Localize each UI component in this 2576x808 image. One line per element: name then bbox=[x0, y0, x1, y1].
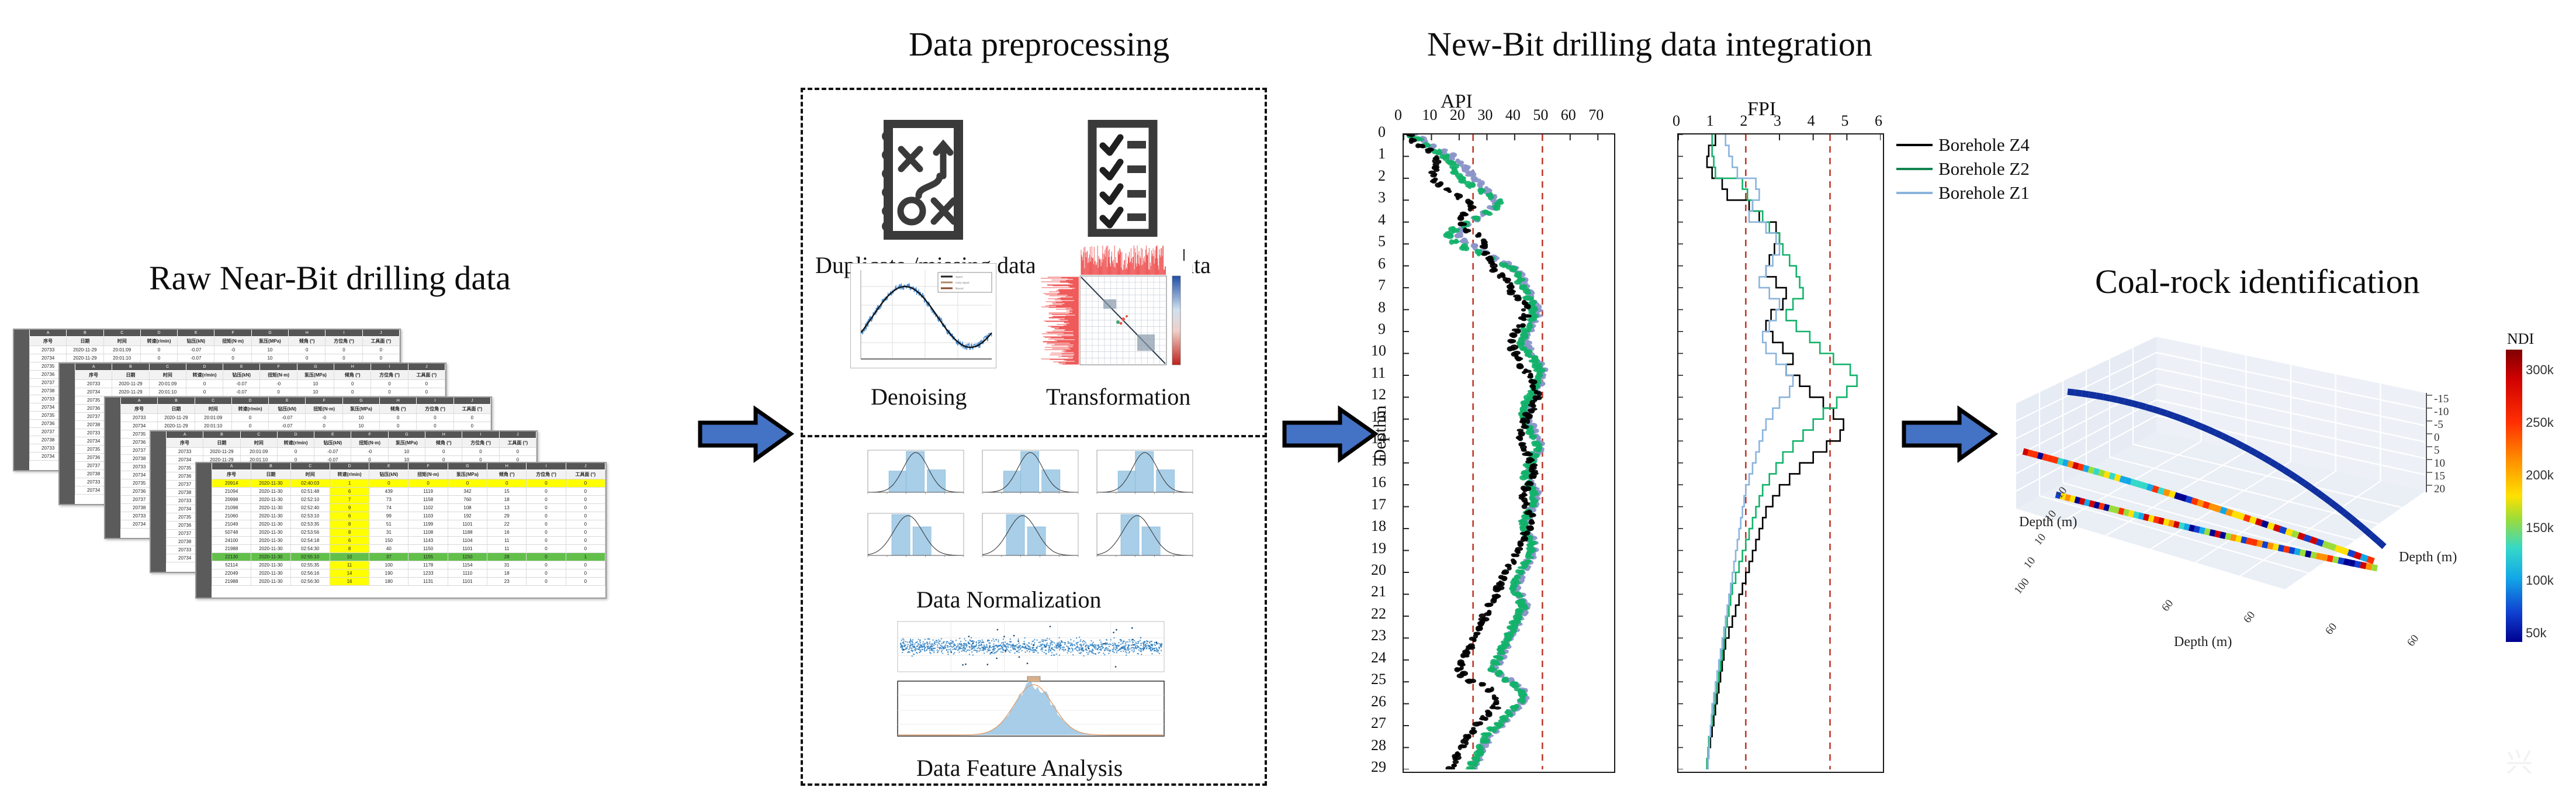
fpi-xtick: 6 bbox=[1875, 112, 1882, 130]
colorbar-title: NDI bbox=[2507, 330, 2534, 348]
svg-text:noisy signal: noisy signal bbox=[955, 281, 970, 284]
denoising-label: Denoising bbox=[871, 383, 967, 410]
depth-ytick: 14 bbox=[1371, 430, 1386, 447]
depth-ytick: 26 bbox=[1371, 693, 1386, 710]
table-row: 241002020-11-3002:54:186150114311041100 bbox=[196, 537, 605, 545]
legend-label: Borehole Z2 bbox=[1938, 158, 2030, 179]
table-row: 210942020-11-3002:51:48643911193421500 bbox=[196, 488, 605, 496]
api-xtick: 10 bbox=[1422, 106, 1437, 124]
table-row: 220492020-11-3002:56:1614190123311101800 bbox=[196, 569, 605, 578]
depth-ytick: 15 bbox=[1371, 452, 1386, 469]
depth-ytick: 20 bbox=[1371, 561, 1386, 579]
fpi-xtick: 5 bbox=[1841, 112, 1848, 130]
axis3d-tick: 5 bbox=[2434, 444, 2440, 457]
table-row: 521142020-11-3002:55:3511100117811543100 bbox=[196, 561, 605, 569]
table-row: 207342020-11-2920:01:100-0.07010000 bbox=[14, 354, 400, 362]
depth-ytick: 21 bbox=[1371, 583, 1386, 600]
api-track bbox=[1403, 133, 1615, 773]
legend-item: Borehole Z1 bbox=[1896, 182, 2030, 203]
fpi-axis-title: FPI bbox=[1747, 98, 1776, 120]
api-xtick: 30 bbox=[1477, 106, 1493, 124]
depth-ytick: 7 bbox=[1378, 277, 1386, 294]
svg-text:signal: signal bbox=[955, 275, 962, 278]
sheet-row-gutter bbox=[14, 330, 29, 470]
denoising-plot: signalnoisy signalfiltered bbox=[850, 263, 996, 368]
api-xtick: 40 bbox=[1505, 106, 1521, 124]
transformation-plot bbox=[1034, 246, 1192, 371]
table-row: 210492020-11-3002:53:35851119911012200 bbox=[196, 520, 605, 529]
sheet-row-gutter bbox=[151, 431, 166, 572]
legend-swatch bbox=[1896, 168, 1933, 170]
sheet-field-header: 序号日期时间转速(r/min)钻压(kN)扭矩(N·m)泵压(MPa)倾角 (°… bbox=[151, 438, 536, 448]
duplicate-missing-icon bbox=[875, 120, 963, 243]
preprocessing-title: Data preprocessing bbox=[909, 25, 1169, 64]
feature-analysis-label: Data Feature Analysis bbox=[916, 754, 1123, 782]
sheet-column-header: ABCDEFGHIJ bbox=[14, 330, 400, 337]
colorbar-tick: 300k bbox=[2526, 362, 2554, 378]
fpi-xtick: 2 bbox=[1740, 112, 1747, 130]
depth-ytick: 18 bbox=[1371, 517, 1386, 535]
table-row: 207332020-11-2920:01:090-0.07-010000 bbox=[151, 448, 536, 456]
depth-ytick: 4 bbox=[1378, 211, 1386, 229]
normalization-label: Data Normalization bbox=[916, 586, 1102, 613]
legend-item: Borehole Z2 bbox=[1896, 158, 2030, 179]
depth-ytick: 25 bbox=[1371, 671, 1386, 688]
sheet-column-header: ABCDEFGHIJ bbox=[151, 431, 536, 438]
axis3d-tick: 0 bbox=[2434, 431, 2440, 444]
table-row: 209982020-11-3002:52:1077311587601800 bbox=[196, 496, 605, 504]
watermark: 兴 bbox=[2506, 741, 2535, 780]
axis3d-tick: -15 bbox=[2434, 393, 2449, 406]
table-row: 207332020-11-2920:01:090-0.07-010000 bbox=[105, 414, 491, 422]
depth-ytick: 10 bbox=[1371, 342, 1386, 360]
axis3d-right-label: Depth (m) bbox=[2399, 550, 2457, 565]
table-row: 207342020-11-2920:01:100-0.07010000 bbox=[105, 422, 491, 430]
table-row: 210982020-11-3002:52:4097411021081300 bbox=[196, 504, 605, 512]
colorbar-tick: 150k bbox=[2526, 520, 2554, 536]
ndi-colorbar bbox=[2506, 350, 2522, 642]
sheet-field-header: 序号日期时间转速(r/min)钻压(kN)扭矩(N·m)泵压(MPa)倾角 (°… bbox=[196, 470, 605, 479]
depth-ytick: 19 bbox=[1371, 540, 1386, 557]
depth-ytick: 12 bbox=[1371, 386, 1386, 403]
depth-ytick: 13 bbox=[1371, 408, 1386, 426]
arrow-raw-to-preprocessing bbox=[695, 403, 795, 465]
fpi-xtick: 4 bbox=[1808, 112, 1815, 130]
depth-ytick: 29 bbox=[1371, 758, 1386, 776]
depth-ytick: 9 bbox=[1378, 320, 1386, 338]
coal-rock-title: Coal-rock identification bbox=[2095, 262, 2420, 301]
legend-label: Borehole Z4 bbox=[1938, 134, 2030, 156]
raw-data-sheet: ABCDEFGHIJ序号日期时间转速(r/min)钻压(kN)扭矩(N·m)泵压… bbox=[195, 462, 607, 599]
depth-ytick: 2 bbox=[1378, 167, 1386, 185]
sheet-field-header: 序号日期时间转速(r/min)钻压(kN)扭矩(N·m)泵压(MPa)倾角 (°… bbox=[14, 337, 400, 346]
sheet-field-header: 序号日期时间转速(r/min)钻压(kN)扭矩(N·m)泵压(MPa)倾角 (°… bbox=[60, 371, 445, 380]
api-xtick: 50 bbox=[1533, 106, 1548, 124]
fpi-xtick: 3 bbox=[1774, 112, 1781, 130]
legend-label: Borehole Z1 bbox=[1938, 182, 2030, 203]
coal-rock-3d-plot bbox=[1981, 316, 2460, 675]
depth-ytick: 28 bbox=[1371, 737, 1386, 754]
svg-text:filtered: filtered bbox=[955, 287, 964, 290]
integration-title: New-Bit drilling data integration bbox=[1427, 25, 1872, 64]
depth-ytick: 5 bbox=[1378, 233, 1386, 250]
table-row: 210602020-11-3002:53:1069911031922900 bbox=[196, 512, 605, 520]
transformation-label: Transformation bbox=[1046, 383, 1190, 410]
api-xtick: 0 bbox=[1394, 106, 1402, 124]
sheet-field-header: 序号日期时间转速(r/min)钻压(kN)扭矩(N·m)泵压(MPa)倾角 (°… bbox=[105, 405, 491, 414]
legend-swatch bbox=[1896, 144, 1933, 146]
depth-ytick: 24 bbox=[1371, 649, 1386, 667]
sheet-row-gutter bbox=[60, 364, 75, 504]
normalization-histograms bbox=[856, 444, 1207, 570]
depth-ytick: 11 bbox=[1371, 364, 1386, 382]
depth-ytick: 27 bbox=[1371, 714, 1386, 732]
sheet-row-gutter bbox=[105, 398, 120, 538]
depth-ytick: 3 bbox=[1378, 189, 1386, 206]
table-row: 207332020-11-2920:01:090-0.07-010000 bbox=[14, 346, 400, 354]
fpi-xtick: 1 bbox=[1706, 112, 1714, 130]
table-row: 219882020-11-3002:54:30840115011011100 bbox=[196, 545, 605, 553]
axis3d-tick: -10 bbox=[2434, 406, 2449, 419]
axis3d-tick: 10 bbox=[2434, 457, 2445, 470]
sheet-column-header: ABCDEFGHIJ bbox=[105, 398, 491, 405]
sheet-column-header: ABCDEFGHIJ bbox=[196, 463, 605, 470]
colorbar-tick: 250k bbox=[2526, 415, 2554, 430]
fpi-xtick: 0 bbox=[1673, 112, 1680, 130]
feature-analysis-plots bbox=[877, 617, 1180, 743]
depth-ytick: 23 bbox=[1371, 627, 1386, 644]
api-xtick: 20 bbox=[1450, 106, 1465, 124]
depth-ytick: 16 bbox=[1371, 474, 1386, 491]
api-xtick: 60 bbox=[1561, 106, 1576, 124]
sheet-column-header: ABCDEFGHIJ bbox=[60, 364, 445, 371]
colorbar-tick: 100k bbox=[2526, 573, 2554, 588]
fpi-track bbox=[1677, 133, 1884, 773]
table-row: 221302020-11-3002:55:101037115511502801 bbox=[196, 553, 605, 561]
depth-ytick: 1 bbox=[1378, 145, 1386, 163]
legend-swatch bbox=[1896, 192, 1933, 194]
axis3d-tick: 15 bbox=[2434, 470, 2445, 483]
depth-ytick: 0 bbox=[1378, 123, 1386, 141]
legend-item: Borehole Z4 bbox=[1896, 134, 2030, 156]
table-row: 219882020-11-3002:56:3016180113111012300 bbox=[196, 578, 605, 586]
raw-data-title: Raw Near-Bit drilling data bbox=[149, 258, 511, 298]
depth-ytick: 22 bbox=[1371, 605, 1386, 623]
abnormal-data-icon bbox=[1084, 120, 1159, 240]
axis3d-bottom-label: Depth (m) bbox=[2174, 634, 2232, 650]
table-row: 207342020-11-2920:01:100-0.07010000 bbox=[60, 388, 445, 396]
table-row: 507482020-11-3002:53:56831110811881600 bbox=[196, 529, 605, 537]
colorbar-tick: 200k bbox=[2526, 468, 2554, 483]
axis3d-tick: -5 bbox=[2434, 419, 2443, 431]
workflow-figure: Raw Near-Bit drilling data Data preproce… bbox=[0, 0, 2576, 808]
axis3d-tick: 20 bbox=[2434, 483, 2445, 496]
depth-ytick: 6 bbox=[1378, 255, 1386, 272]
arrow-preprocessing-to-integration bbox=[1280, 403, 1379, 465]
borehole-legend: Borehole Z4Borehole Z2Borehole Z1 bbox=[1896, 134, 2030, 206]
api-xtick: 70 bbox=[1588, 106, 1604, 124]
table-row: 209142020-11-3002:40:031000000 bbox=[196, 479, 605, 488]
depth-ytick: 8 bbox=[1378, 299, 1386, 316]
depth-ytick: 17 bbox=[1371, 496, 1386, 513]
table-row: 207332020-11-2920:01:090-0.07-010000 bbox=[60, 380, 445, 388]
sheet-row-gutter bbox=[196, 463, 212, 598]
colorbar-tick: 50k bbox=[2526, 626, 2546, 641]
